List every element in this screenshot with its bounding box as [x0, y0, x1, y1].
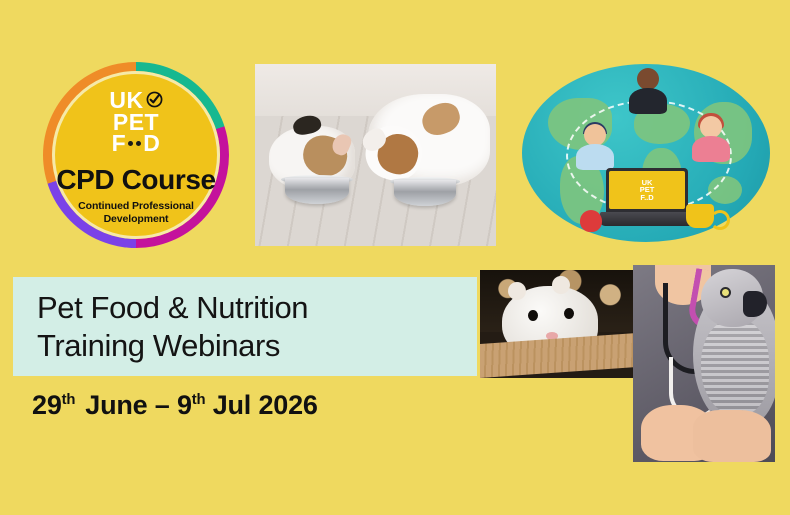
- logo-double-dot-icon: [128, 141, 141, 146]
- globe-shape: UK PET F..D: [522, 64, 770, 242]
- hamster-ear-right: [552, 276, 570, 294]
- date-dash: –: [155, 390, 170, 420]
- logo-text-uk: UK: [109, 90, 143, 111]
- avatar-head: [584, 124, 606, 146]
- event-date: 29thJune – 9th Jul 2026: [32, 390, 318, 421]
- parrot-feather-texture: [701, 319, 769, 415]
- dog-food-bowl: [394, 180, 456, 206]
- date-end-day: 9: [177, 390, 192, 420]
- laptop-screen: UK PET F..D: [606, 168, 688, 212]
- avatar-body: [576, 144, 614, 170]
- apple-icon: [580, 210, 602, 232]
- avatar-body: [692, 136, 730, 162]
- parrot-eye: [720, 287, 731, 298]
- badge-title: CPD Course: [56, 164, 215, 196]
- hamster-ear-left: [508, 282, 526, 300]
- logo-text-f: F: [112, 133, 127, 154]
- cat-food-bowl: [285, 178, 349, 204]
- global-webinar-illustration: UK PET F..D: [516, 58, 776, 248]
- participant-avatar-top: [627, 68, 669, 114]
- check-circle-icon: [146, 90, 163, 107]
- hamster-eye-right: [564, 308, 574, 319]
- participant-avatar-left: [574, 124, 616, 170]
- date-start-month: June: [85, 390, 147, 420]
- coffee-cup-handle: [710, 210, 730, 230]
- badge-subtitle: Continued Professional Development: [78, 200, 194, 226]
- vet-with-parrot-photo: [633, 265, 775, 462]
- logo-line-food: F D: [112, 133, 161, 154]
- laptop-illustration: UK PET F..D: [600, 168, 694, 232]
- uk-pet-food-logo: UK PET F D: [109, 90, 162, 155]
- page-title-line-2: Training Webinars: [37, 327, 477, 365]
- webinar-promo-poster: UK PET F D CPD Cour: [0, 0, 790, 515]
- avatar-head: [700, 116, 722, 138]
- avatar-body: [629, 88, 667, 114]
- page-title-line-1: Pet Food & Nutrition: [37, 289, 477, 327]
- cpd-course-badge: UK PET F D CPD Cour: [43, 62, 229, 248]
- avatar-head: [637, 68, 659, 90]
- cat-and-dog-eating-photo: [255, 64, 496, 246]
- hamster-eye-left: [528, 310, 538, 321]
- hamster-photo: [480, 270, 635, 378]
- date-end-month: Jul: [213, 390, 251, 420]
- badge-subtitle-line-2: Development: [78, 213, 194, 226]
- logo-text-d: D: [143, 133, 160, 154]
- date-end-ordinal: th: [192, 392, 206, 408]
- screen-logo-line-3: F..D: [640, 194, 655, 202]
- title-band: Pet Food & Nutrition Training Webinars: [13, 277, 477, 376]
- laptop-keyboard: [600, 212, 694, 226]
- badge-subtitle-line-1: Continued Professional: [78, 200, 194, 213]
- wooden-ledge: [480, 333, 635, 378]
- date-year: 2026: [258, 390, 317, 420]
- date-start-day: 29: [32, 390, 62, 420]
- vet-hand-right: [693, 410, 771, 462]
- laptop-screen-content: UK PET F..D: [609, 171, 685, 209]
- badge-content: UK PET F D CPD Cour: [56, 84, 216, 227]
- laptop-screen-logo: UK PET F..D: [640, 179, 655, 202]
- participant-avatar-right: [690, 116, 732, 162]
- date-start-ordinal: th: [62, 392, 76, 408]
